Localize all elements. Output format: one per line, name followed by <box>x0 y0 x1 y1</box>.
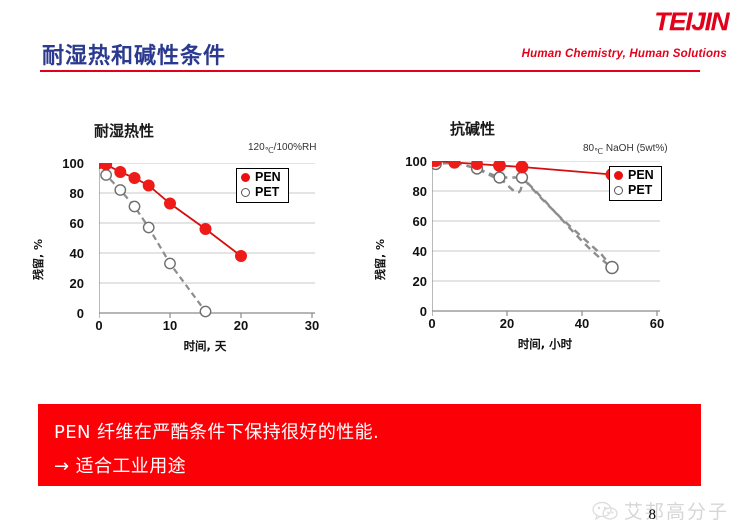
y-tick-40: 40 <box>373 244 427 259</box>
chart-title-alkali: 抗碱性 <box>450 118 495 139</box>
teijin-logo: TEIJIN <box>655 8 729 37</box>
page-number: 8 <box>649 507 657 524</box>
legend-marker-pet-icon <box>614 186 623 195</box>
annotation-value: 120 <box>248 142 265 153</box>
x-tick-40: 40 <box>568 316 596 331</box>
y-tick-100: 100 <box>373 154 427 169</box>
x-axis-label-alkali: 时间, 小时 <box>475 336 615 352</box>
x-tick-0: 0 <box>418 316 446 331</box>
legend-alkali: PEN PET <box>609 166 662 201</box>
legend-entry-pen: PEN <box>241 170 281 185</box>
watermark-text: 艾邦高分子 <box>624 497 729 524</box>
x-tick-20: 20 <box>227 318 255 333</box>
chart-annotation-moist-heat: 120℃/100%RH <box>248 142 316 155</box>
y-tick-0: 0 <box>28 306 84 321</box>
legend-marker-pet-icon <box>241 188 250 197</box>
header-divider <box>40 70 700 72</box>
x-tick-0: 0 <box>85 318 113 333</box>
legend-label-pet: PET <box>255 185 279 200</box>
chart-moist-heat: 耐湿热性 120℃/100%RH 残留, % 100 80 60 40 20 0 <box>0 110 370 370</box>
annotation-rest: /100%RH <box>274 142 317 153</box>
y-tick-60: 60 <box>373 214 427 229</box>
wechat-logo-icon <box>592 501 618 521</box>
x-tick-60: 60 <box>643 316 671 331</box>
legend-entry-pet: PET <box>241 185 281 200</box>
annotation-rest: NaOH (5wt%) <box>606 143 668 154</box>
annotation-unit: ℃ <box>265 146 274 155</box>
annotation-unit: ℃ <box>594 147 603 156</box>
y-tick-20: 20 <box>28 276 84 291</box>
y-tick-40: 40 <box>28 246 84 261</box>
watermark: 艾邦高分子 <box>592 497 729 524</box>
y-tick-20: 20 <box>373 274 427 289</box>
summary-banner: PEN 纤维在严酷条件下保持很好的性能. → 适合工业用途 <box>38 404 701 486</box>
x-tick-20: 20 <box>493 316 521 331</box>
y-tick-80: 80 <box>373 184 427 199</box>
page-title: 耐湿热和碱性条件 <box>42 38 226 70</box>
x-tick-10: 10 <box>156 318 184 333</box>
legend-entry-pen: PEN <box>614 168 654 183</box>
legend-marker-pen-icon <box>614 171 623 180</box>
company-tagline: Human Chemistry, Human Solutions <box>522 48 727 60</box>
y-tick-100: 100 <box>28 156 84 171</box>
banner-line-2: → 适合工业用途 <box>54 452 186 478</box>
chart-title-moist-heat: 耐湿热性 <box>94 120 154 141</box>
y-tick-60: 60 <box>28 216 84 231</box>
legend-label-pet: PET <box>628 183 652 198</box>
legend-label-pen: PEN <box>628 168 654 183</box>
chart-annotation-alkali: 80℃ NaOH (5wt%) <box>583 143 668 156</box>
annotation-value: 80 <box>583 143 594 154</box>
slide-root: TEIJIN 耐湿热和碱性条件 Human Chemistry, Human S… <box>0 0 741 530</box>
chart-alkali-resistance: 抗碱性 80℃ NaOH (5wt%) 残留, % 100 80 60 40 2… <box>355 110 735 370</box>
banner-line-1: PEN 纤维在严酷条件下保持很好的性能. <box>54 418 379 444</box>
legend-marker-pen-icon <box>241 173 250 182</box>
legend-entry-pet: PET <box>614 183 654 198</box>
series-markers-pet <box>432 161 618 274</box>
y-tick-80: 80 <box>28 186 84 201</box>
legend-moist-heat: PEN PET <box>236 168 289 203</box>
x-tick-30: 30 <box>298 318 326 333</box>
x-axis-label-moist-heat: 时间, 天 <box>140 338 270 354</box>
series-markers-pen <box>99 163 247 262</box>
legend-label-pen: PEN <box>255 170 281 185</box>
